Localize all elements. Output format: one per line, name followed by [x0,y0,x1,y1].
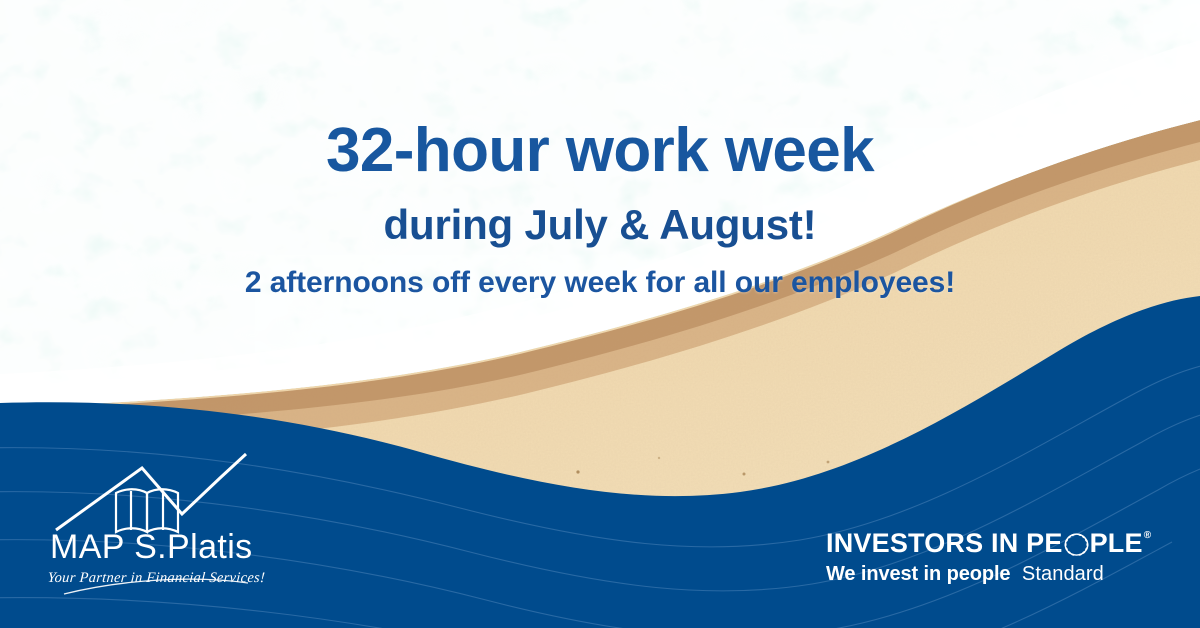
promo-banner: 32-hour work week during July & August! … [0,0,1200,628]
iip-title-before: INVESTORS IN PE [826,530,1063,557]
laurel-wreath-icon [1063,531,1090,558]
map-splatis-logo[interactable]: MAP S.Platis Your Partner in Financial S… [34,444,299,596]
registered-trademark-icon: ® [1144,531,1152,541]
iip-title-after: PLE [1090,530,1143,557]
iip-subtitle-row: We invest in people Standard [826,564,1156,584]
iip-strapline: We invest in people [826,563,1010,585]
investors-in-people-logo[interactable]: INVESTORS IN PE [826,530,1156,592]
map-logo-wordmark: MAP S.Platis [50,528,253,566]
iip-title-row: INVESTORS IN PE [826,530,1156,557]
iip-accreditation-level: Standard [1022,563,1104,585]
map-logo-tagline: Your Partner in Financial Services! [47,570,266,586]
open-book-icon [116,489,178,532]
map-splatis-logo-svg: MAP S.Platis Your Partner in Financial S… [34,444,299,596]
